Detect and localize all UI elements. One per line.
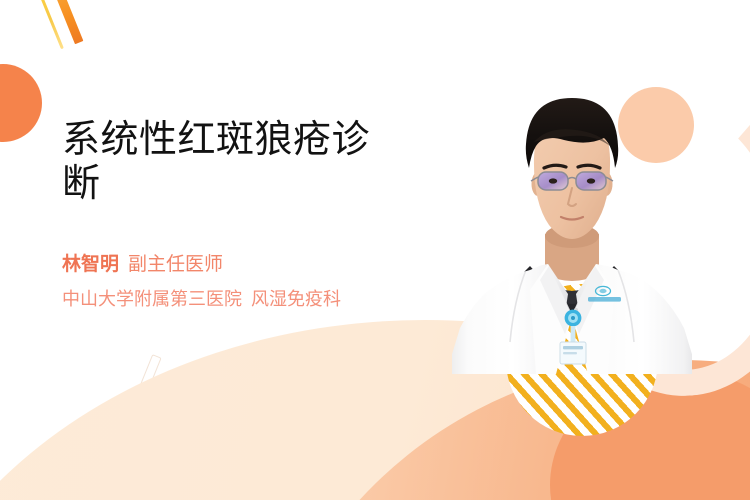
bottom-salmon-wave-shape (250, 360, 750, 500)
presenter-name: 林智明 (62, 254, 119, 275)
left-orange-circle-shape (0, 64, 42, 142)
doctor-portrait-image (452, 84, 692, 374)
course-cover-slide: 系统性红斑狼疮诊断 林智明副主任医师 中山大学附属第三医院风湿免疫科 (0, 0, 750, 500)
top-orange-stripe-shape (47, 0, 83, 44)
page-title: 系统性红斑狼疮诊断 (62, 118, 402, 206)
portrait-container (452, 84, 692, 374)
credits-block: 林智明副主任医师 中山大学附属第三医院风湿免疫科 (62, 248, 462, 316)
affiliation-line: 中山大学附属第三医院风湿免疫科 (62, 282, 462, 316)
department-name: 风湿免疫科 (251, 289, 341, 309)
presenter-line: 林智明副主任医师 (62, 248, 462, 282)
hospital-name: 中山大学附属第三医院 (62, 289, 242, 309)
top-yellow-stripe-shape (34, 0, 64, 49)
presenter-role: 副主任医师 (128, 254, 223, 275)
title-block: 系统性红斑狼疮诊断 (62, 118, 422, 206)
ghost-stripe-shape (134, 354, 161, 402)
